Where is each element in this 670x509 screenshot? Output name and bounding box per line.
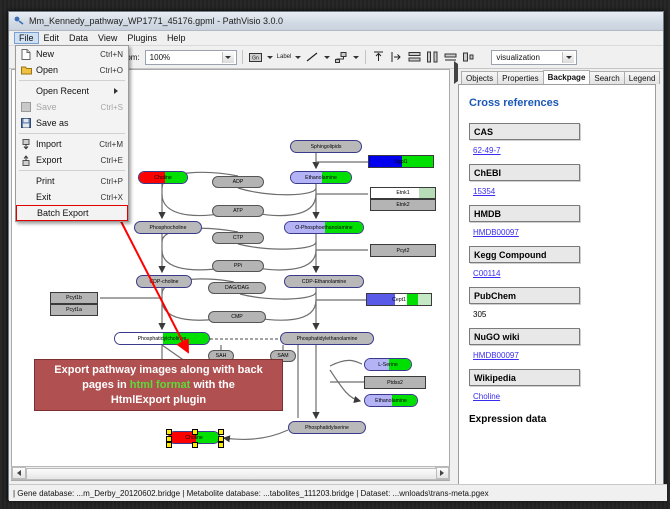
label-button-text[interactable]: Label [277,54,292,60]
node-label: Phosphatidylserine [305,425,349,431]
node-label: O-Phosphoethanolamine [295,225,352,231]
sidebar-tabs[interactable]: Objects Properties Backpage Search Legen… [452,69,660,84]
chevron-down-icon[interactable] [222,52,234,63]
menu-item-shortcut: Ctrl+P [101,177,128,186]
node-choline-top[interactable]: Choline [138,171,188,184]
xref-entry: ChEBI15354 [469,164,645,205]
menu-item-shortcut: Ctrl+O [100,66,128,75]
gene-label: Etnk1 [396,190,409,196]
gene-label: Sgpl1 [394,159,407,165]
node-adp[interactable]: ADP [212,176,264,188]
node-cdp-choline[interactable]: CDP-choline [136,275,192,288]
import-icon [16,139,36,150]
menu-item-label: Exit [36,192,101,202]
xref-link[interactable]: Choline [473,392,500,401]
menu-view[interactable]: View [93,32,122,44]
node-phosphatidylethanolamine[interactable]: Phosphatidylethanolamine [280,332,374,345]
callout-highlight: html format [130,379,191,391]
datanode-dropdown-icon[interactable] [266,50,274,65]
selection-handle[interactable] [166,429,172,435]
gene-ptdss2[interactable]: Ptdss2 [364,376,426,389]
line-dropdown-icon[interactable] [323,50,331,65]
cross-references-heading: Cross references [469,97,645,109]
menu-item-label: New [36,49,100,59]
tab-backpage[interactable]: Backpage [543,70,591,84]
xref-database-label: NuGO wiki [469,328,580,345]
cross-reference-list: CAS62-49-7ChEBI15354HMDBHMDB00097Kegg Co… [469,123,645,410]
menu-item-import[interactable]: ImportCtrl+M [16,136,128,152]
visualization-chevron-down-icon[interactable] [562,52,574,63]
node-label: Choline [154,175,172,181]
node-phosphocholine[interactable]: Phosphocholine [134,221,202,234]
node-atp[interactable]: ATP [212,205,264,217]
menu-item-label: Open Recent [36,86,114,96]
menu-separator [19,80,125,81]
menu-bar[interactable]: File Edit Data View Plugins Help [9,31,663,46]
menu-separator [19,133,125,134]
xref-link[interactable]: 62-49-7 [473,146,501,155]
menu-item-save: SaveCtrl+S [16,99,128,115]
xref-entry: WikipediaCholine [469,369,645,410]
backpage-panel[interactable]: Cross references CAS62-49-7ChEBI15354HMD… [458,84,656,486]
application-window: Mm_Kennedy_pathway_WP1771_45176.gpml - P… [8,11,664,500]
node-ethanolamine-right[interactable]: Ethanolamine [364,394,418,407]
menu-item-open[interactable]: OpenCtrl+O [16,62,128,78]
selection-handle[interactable] [192,442,198,448]
gene-label: Pcyt1b [66,295,82,301]
interaction-dropdown-icon[interactable] [352,50,360,65]
gene-etnk2[interactable]: Etnk2 [370,199,436,211]
node-label: Ethanolamine [305,175,337,181]
node-phosphatidylserine[interactable]: Phosphatidylserine [288,421,366,434]
menu-item-label: Save [36,102,101,112]
xref-entry: Kegg CompoundC00114 [469,246,645,287]
xref-entry: HMDBHMDB00097 [469,205,645,246]
menu-item-label: Import [36,139,99,149]
export-icon [16,155,36,166]
menu-item-new[interactable]: NewCtrl+N [16,46,128,62]
datanode-icon[interactable]: Gn [248,50,263,65]
status-bar: | Gene database: ...m_Derby_20120602.bri… [9,484,667,501]
save-as-icon [16,118,36,128]
node-label: Ethanolamine [375,398,407,404]
gene-label: Ptdss2 [387,380,403,386]
menu-item-shortcut: Ctrl+N [100,50,128,59]
node-ppi[interactable]: PPi [212,260,264,272]
gene-label: Cept1 [392,297,406,303]
node-ethanolamine-top[interactable]: Ethanolamine [290,171,352,184]
align-columns-icon[interactable] [425,50,440,65]
gene-pcyt1a[interactable]: Pcyt1a [50,304,98,316]
save-icon [16,102,36,112]
callout-line2-after: with the [190,379,235,391]
title-bar: Mm_Kennedy_pathway_WP1771_45176.gpml - P… [9,12,663,31]
menu-item-shortcut: Ctrl+E [101,156,128,165]
callout-line2-before: pages in [82,379,130,391]
menu-item-label: Open [36,65,100,75]
visualization-combobox[interactable]: visualization [491,50,577,65]
node-label: Phosphocholine [150,225,187,231]
menu-item-shortcut: Ctrl+M [99,140,128,149]
xref-database-label: HMDB [469,205,580,222]
menu-item-print[interactable]: PrintCtrl+P [16,173,128,189]
selection-handle[interactable] [218,429,224,435]
node-o-phosphoethanolamine[interactable]: O-Phosphoethanolamine [284,221,364,234]
gene-label: Pcyt1a [66,307,82,313]
selection-handle[interactable] [166,442,172,448]
sidebar: Objects Properties Backpage Search Legen… [452,69,660,490]
pathvisio-icon [13,15,25,27]
menu-item-open-recent[interactable]: Open Recent [16,83,128,99]
node-label: L-Serine [378,362,398,368]
tab-properties[interactable]: Properties [497,71,543,84]
interaction-icon[interactable] [334,50,349,65]
xref-database-label: Kegg Compound [469,246,580,263]
menu-edit[interactable]: Edit [39,32,65,44]
node-sphingolipids[interactable]: Sphingolipids [290,140,362,153]
xref-database-label: PubChem [469,287,580,304]
node-label: Phosphatidylethanolamine [297,336,358,342]
new-file-icon [16,49,36,60]
menu-item-batch-export[interactable]: Batch Export [16,205,128,221]
node-label: CMP [231,314,243,320]
canvas-horizontal-scrollbar[interactable] [11,466,450,480]
window-title: Mm_Kennedy_pathway_WP1771_45176.gpml - P… [29,16,283,26]
menu-item-label: Batch Export [37,208,122,218]
menu-item-label: Print [36,176,101,186]
callout-line3: HtmlExport plugin [111,394,206,406]
node-ctp[interactable]: CTP [212,232,264,244]
tab-search[interactable]: Search [589,71,624,84]
tab-legend[interactable]: Legend [624,71,661,84]
file-menu-popup[interactable]: NewCtrl+NOpenCtrl+OOpen RecentSaveCtrl+S… [15,45,129,222]
selection-handle[interactable] [166,436,172,442]
desktop-background: Mm_Kennedy_pathway_WP1771_45176.gpml - P… [0,0,670,509]
scroll-right-button[interactable] [435,467,449,479]
menu-item-label: Export [36,155,101,165]
visualization-value: visualization [494,53,562,62]
toolbar-separator [242,50,243,64]
menu-item-shortcut: Ctrl+X [101,193,128,202]
submenu-chevron-icon [114,88,118,94]
menu-item-save-as[interactable]: Save as [16,115,128,131]
status-text: | Gene database: ...m_Derby_20120602.bri… [13,489,489,498]
selection-handle[interactable] [218,442,224,448]
zoom-combobox[interactable]: 100% [145,50,237,65]
svg-text:Gn: Gn [252,55,259,61]
align-left-icon[interactable] [389,50,404,65]
gene-etnk1[interactable]: Etnk1 [370,187,436,199]
open-folder-icon [16,65,36,75]
align-vertical-icon[interactable] [407,50,422,65]
node-cdp-ethanolamine[interactable]: CDP-Ethanolamine [284,275,364,288]
menu-item-label: Save as [36,118,123,128]
node-label: Sphingolipids [311,144,342,150]
xref-entry: NuGO wikiHMDB00097 [469,328,645,369]
menu-item-shortcut: Ctrl+S [101,103,128,112]
node-label: ATP [233,208,243,214]
scroll-track[interactable] [26,468,435,478]
xref-database-label: Wikipedia [469,369,580,386]
node-label: CTP [233,235,243,241]
gene-pcyt2[interactable]: Pcyt2 [370,244,436,257]
tab-objects[interactable]: Objects [461,71,498,84]
menu-data[interactable]: Data [64,32,93,44]
xref-entry: PubChem305 [469,287,645,328]
node-l-serine[interactable]: L-Serine [364,358,412,371]
xref-link[interactable]: HMDB00097 [473,351,519,360]
node-dag[interactable]: DAG/DAG [208,282,266,294]
selection-handle[interactable] [218,436,224,442]
gene-label: Pcyt2 [397,248,410,254]
align-top-icon[interactable] [371,50,386,65]
gene-cept1[interactable]: Cept1 [366,293,432,306]
node-label: CDP-Ethanolamine [302,279,346,285]
node-label: Phosphatidylcholines [138,336,187,342]
same-height-icon[interactable] [461,50,476,65]
gene-label: Etnk2 [396,202,409,208]
xref-link[interactable]: C00114 [473,269,500,278]
scroll-thumb[interactable] [26,468,437,480]
scroll-left-button[interactable] [12,467,26,479]
tab-scroll-icon[interactable] [454,64,458,82]
xref-entry: CAS62-49-7 [469,123,645,164]
menu-item-export[interactable]: ExportCtrl+E [16,152,128,168]
gene-pcyt1b[interactable]: Pcyt1b [50,292,98,304]
xref-link[interactable]: HMDB00097 [473,228,519,237]
menu-separator [19,170,125,171]
toolbar-separator-2 [365,50,366,64]
menu-plugins[interactable]: Plugins [122,32,162,44]
line-icon[interactable] [305,50,320,65]
menu-item-exit[interactable]: ExitCtrl+X [16,189,128,205]
node-phosphatidylcholines[interactable]: Phosphatidylcholines [114,332,210,345]
node-label: PPi [234,263,242,269]
menu-file[interactable]: File [14,32,39,44]
node-cmp[interactable]: CMP [208,311,266,323]
xref-database-label: ChEBI [469,164,580,181]
zoom-value: 100% [148,53,222,62]
node-label: Choline [185,435,203,441]
node-label: DAG/DAG [225,285,249,291]
node-label: CDP-choline [149,279,178,285]
annotation-callout: Export pathway images along with back pa… [34,359,283,411]
callout-line1: Export pathway images along with back [54,364,262,376]
xref-link[interactable]: 15354 [473,187,495,196]
xref-database-label: CAS [469,123,580,140]
expression-data-heading: Expression data [469,414,645,425]
gene-sgpl1[interactable]: Sgpl1 [368,155,434,168]
xref-value: 305 [473,310,486,319]
node-label: ADP [233,179,244,185]
label-dropdown-icon[interactable] [294,50,302,65]
menu-help[interactable]: Help [162,32,191,44]
